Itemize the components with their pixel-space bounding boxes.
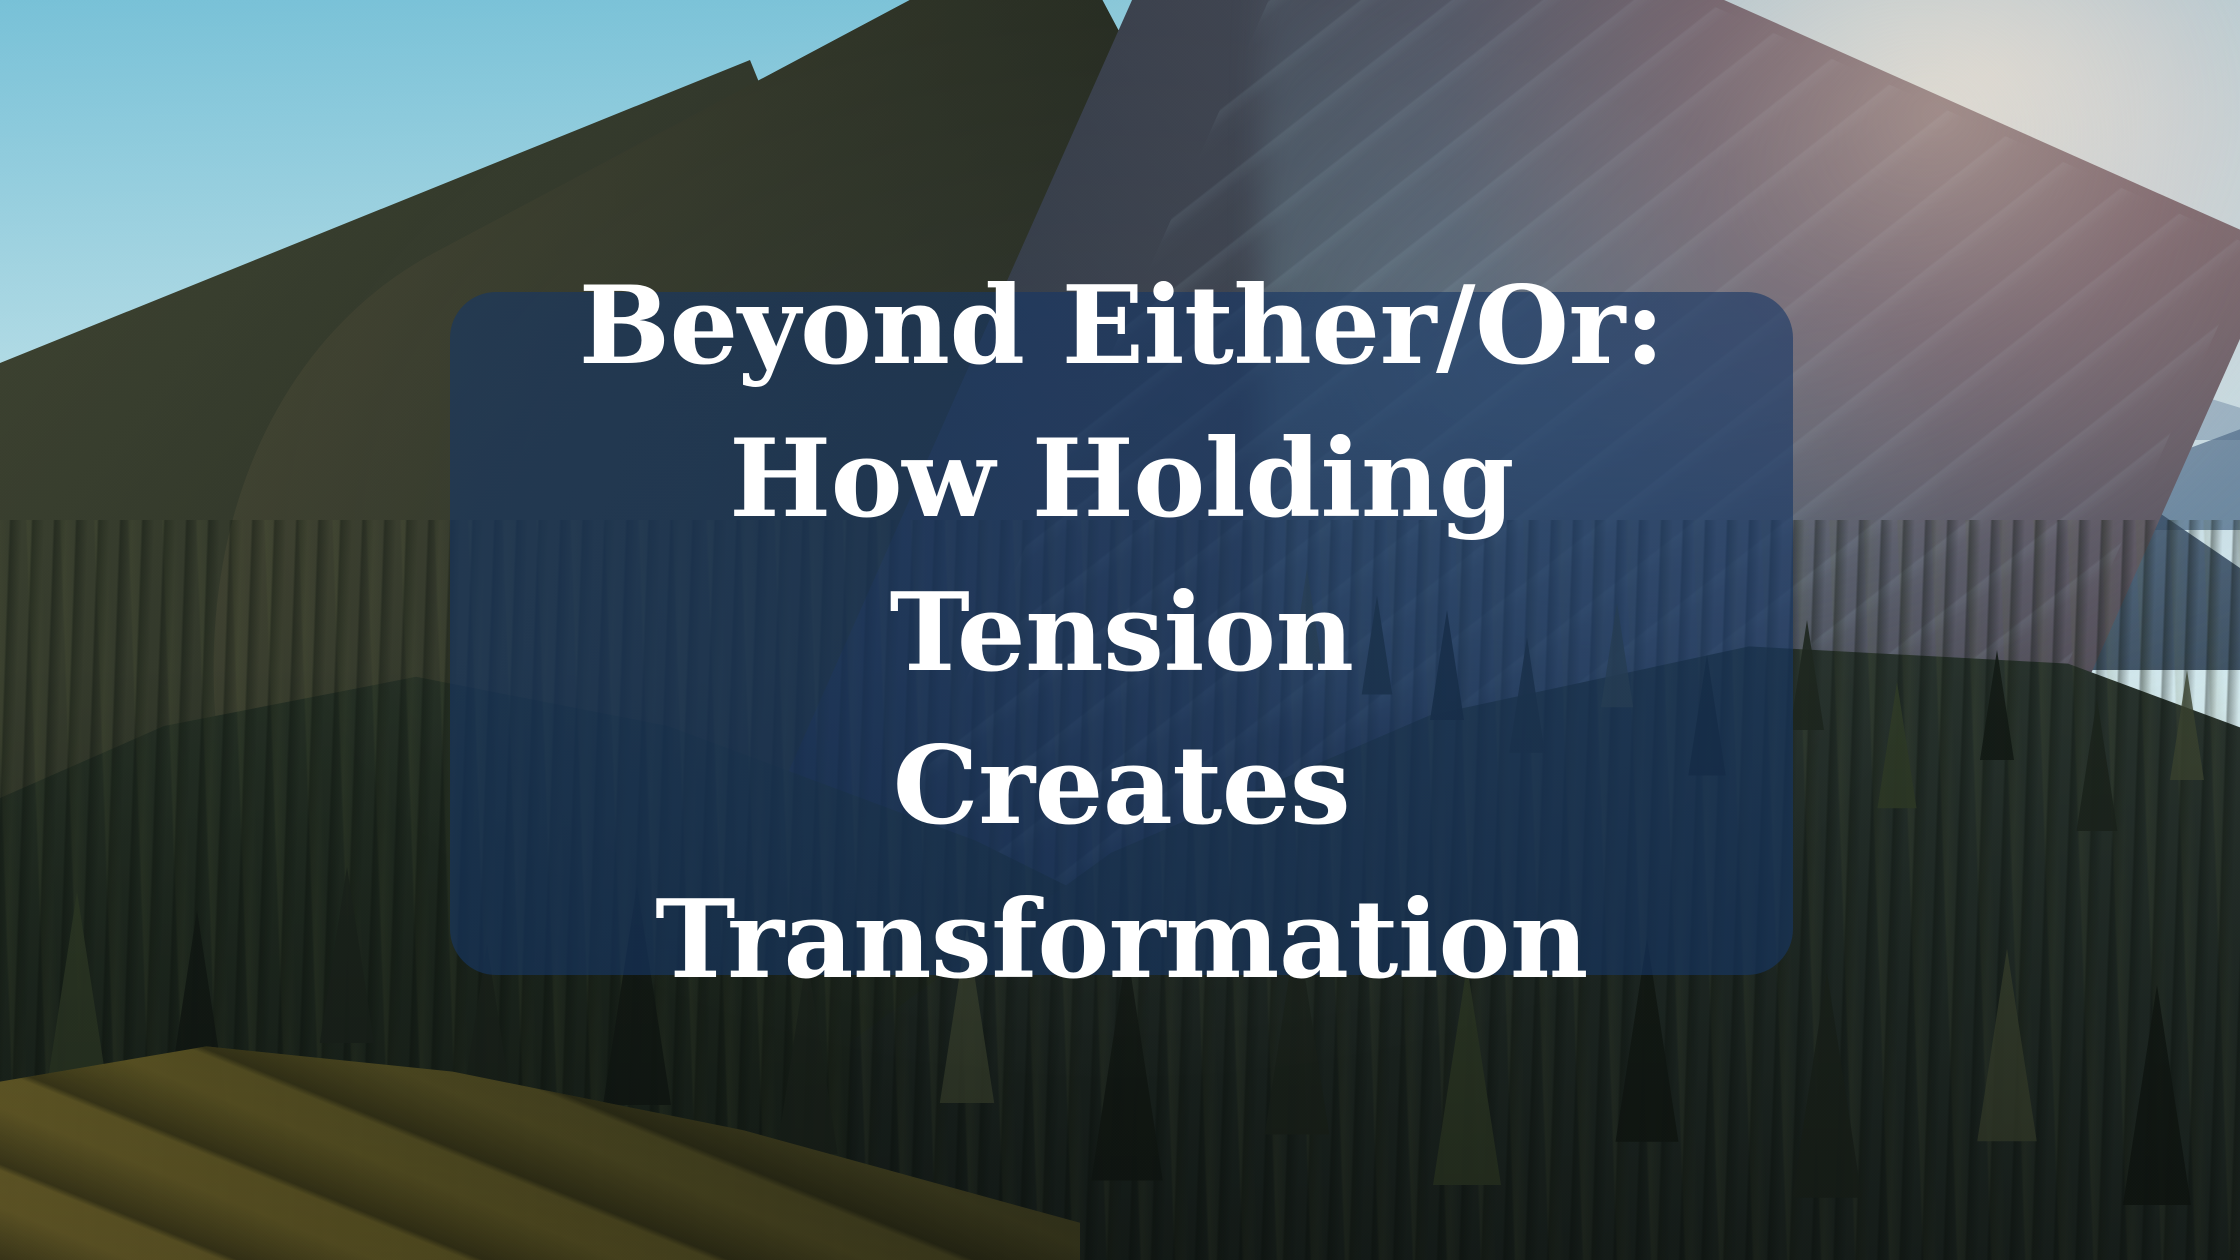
conifer-tree — [1792, 972, 1862, 1198]
title-overlay-card: Beyond Either/Or: How Holding Tension Cr… — [450, 292, 1793, 975]
conifer-tree — [1977, 949, 2037, 1142]
conifer-tree — [1980, 650, 2014, 760]
conifer-tree — [2170, 670, 2204, 780]
conifer-tree — [48, 892, 106, 1079]
conifer-tree — [2077, 699, 2118, 831]
conifer-tree — [2123, 985, 2191, 1205]
conifer-tree — [1790, 620, 1824, 730]
page-title: Beyond Either/Or: How Holding Tension Cr… — [480, 250, 1763, 1017]
conifer-tree — [320, 867, 374, 1043]
banner-graphic: Beyond Either/Or: How Holding Tension Cr… — [0, 0, 2240, 1260]
conifer-tree — [1877, 682, 1916, 809]
